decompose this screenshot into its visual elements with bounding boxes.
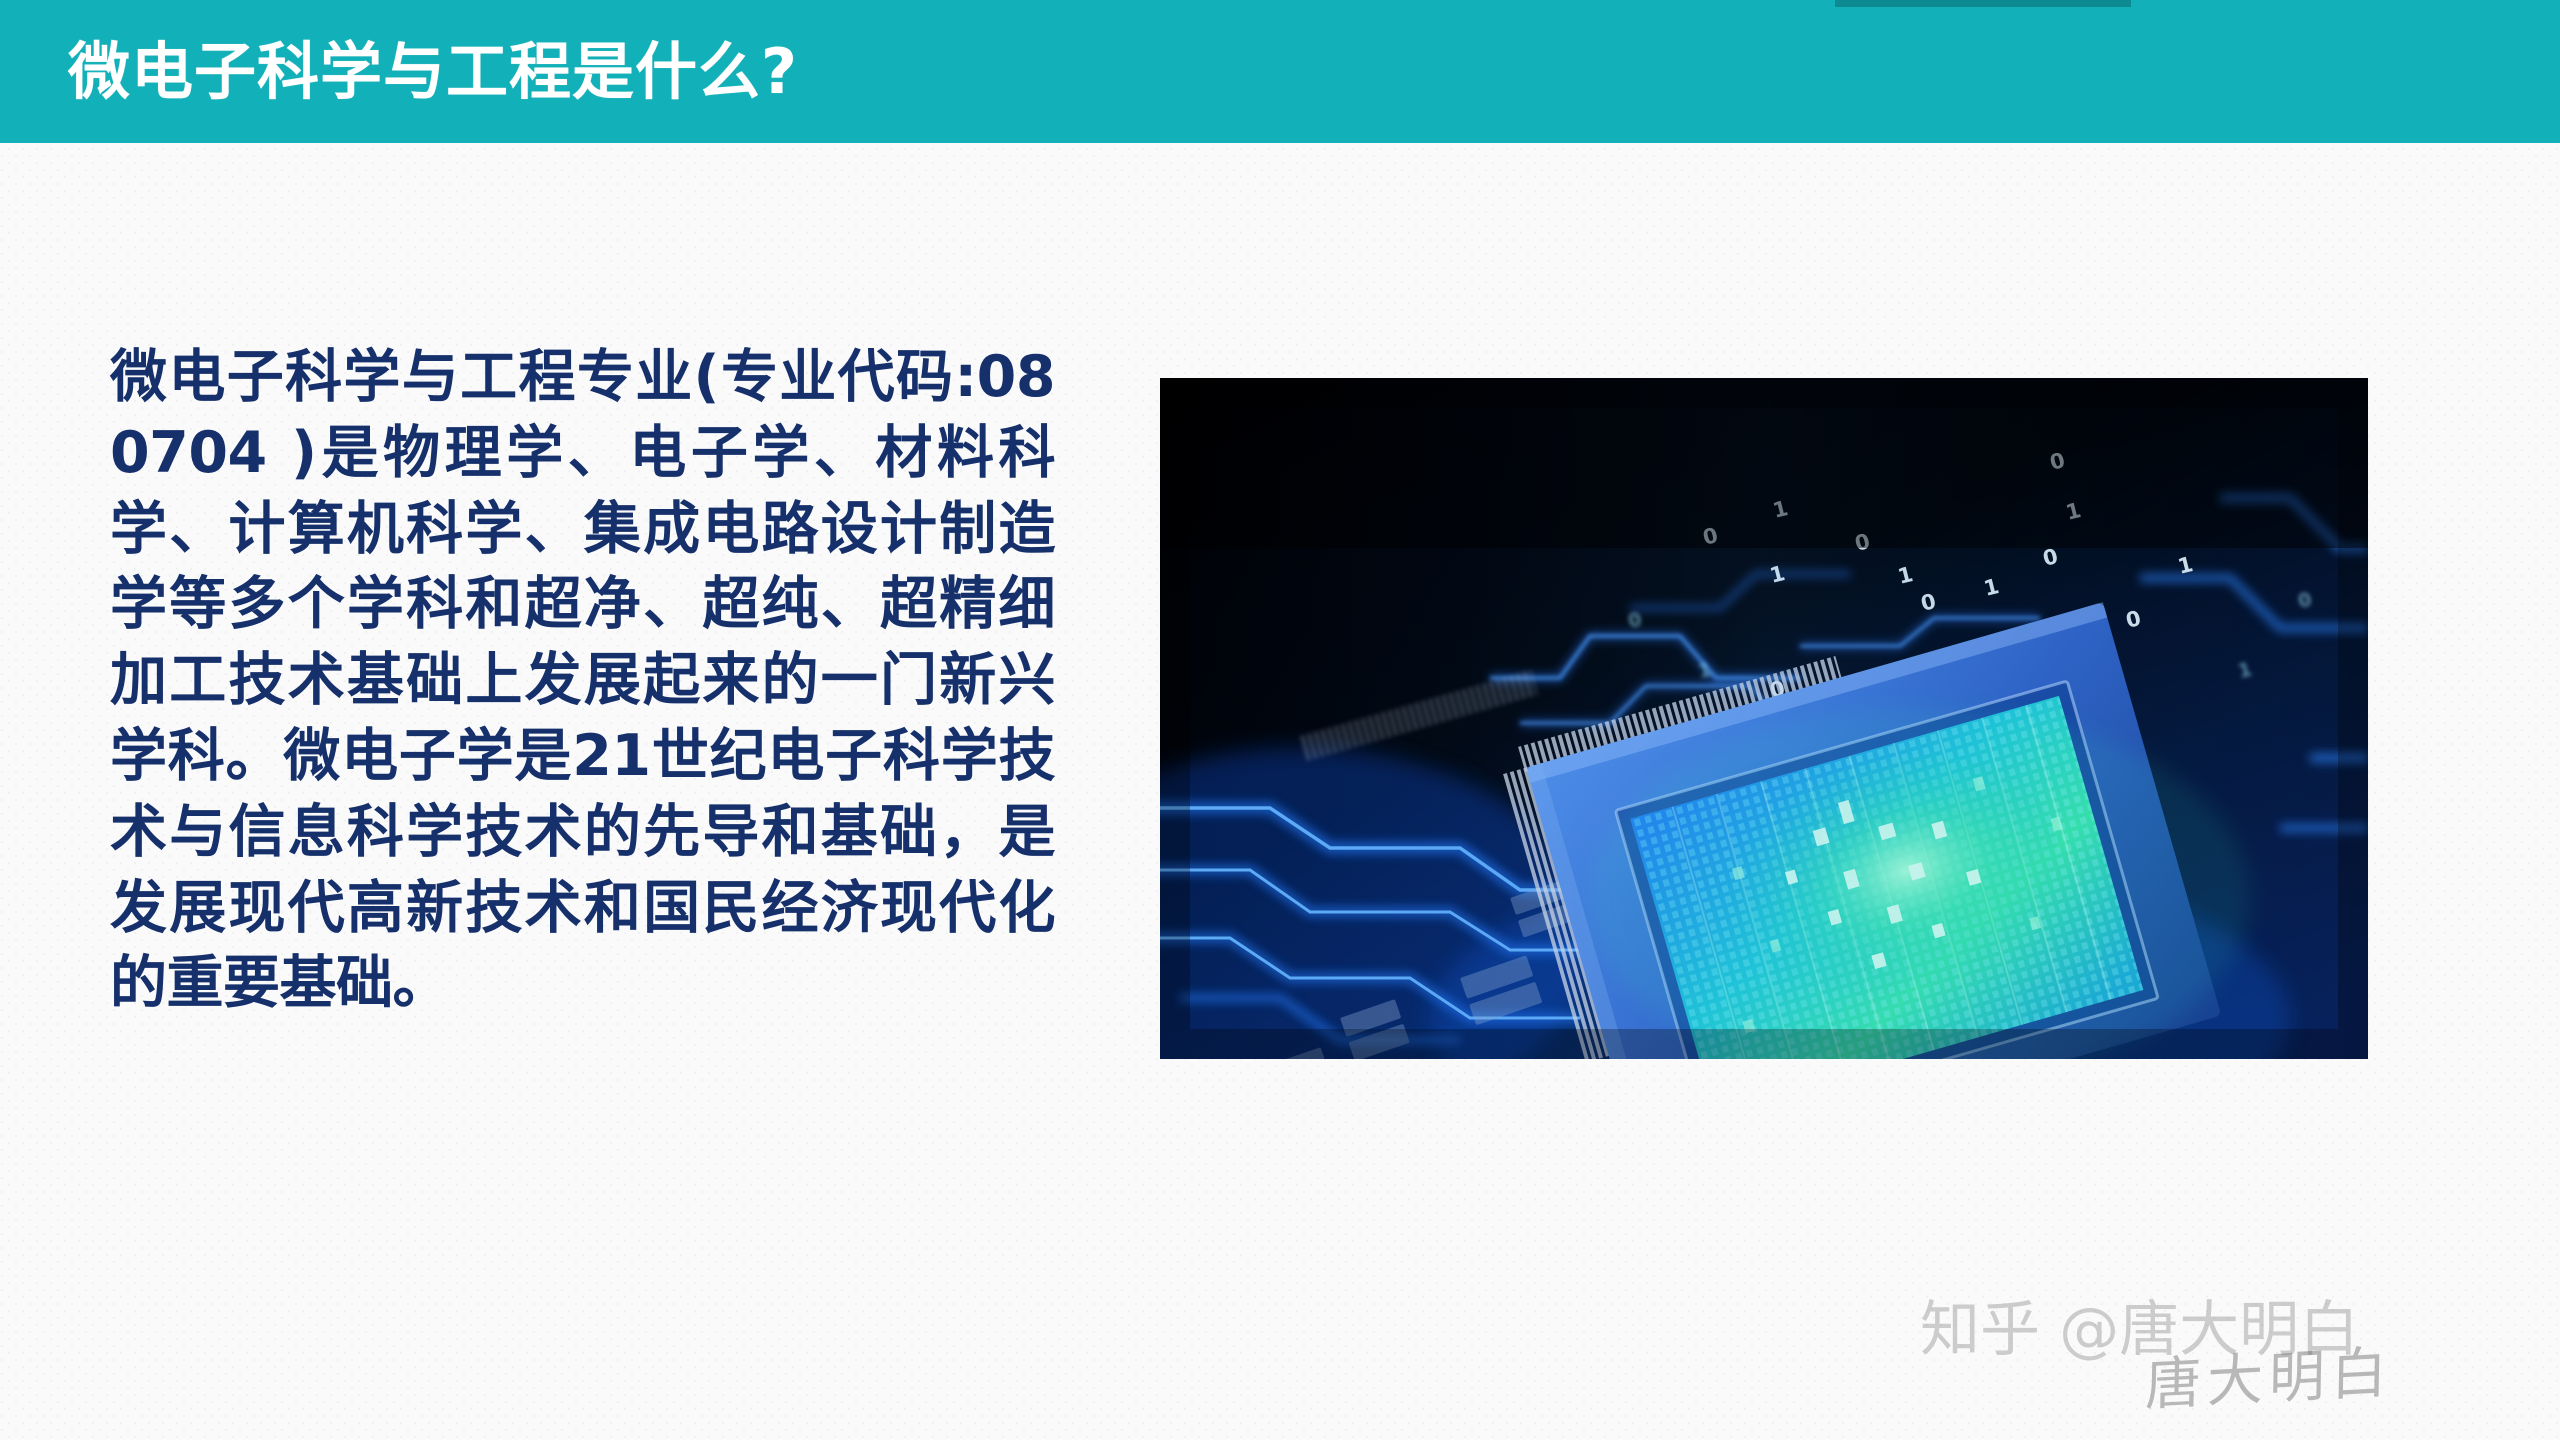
header-accent-strip — [1835, 0, 2131, 7]
circuit-board-image: 0 1 0 1 1 0 1 0 1 0 1 0 0 1 0 1 0 1 1 — [1160, 378, 2368, 1059]
watermark: 知乎 @唐大明白 唐大明白 — [1920, 1300, 2500, 1420]
page-title: 微电子科学与工程是什么? — [68, 41, 798, 103]
watermark-signature: 唐大明白 — [2145, 1345, 2394, 1414]
body-paragraph: 微电子科学与工程专业(专业代码:080704 )是物理学、电子学、材料科学、计算… — [110, 340, 1055, 1022]
watermark-text: 知乎 @唐大明白 — [1920, 1300, 2359, 1360]
slide-root: 微电子科学与工程是什么? 微电子科学与工程专业(专业代码:080704 )是物理… — [0, 0, 2560, 1440]
illustration-photo: 0 1 0 1 1 0 1 0 1 0 1 0 0 1 0 1 0 1 1 — [1160, 378, 2368, 1059]
header-bar: 微电子科学与工程是什么? — [0, 0, 2560, 143]
